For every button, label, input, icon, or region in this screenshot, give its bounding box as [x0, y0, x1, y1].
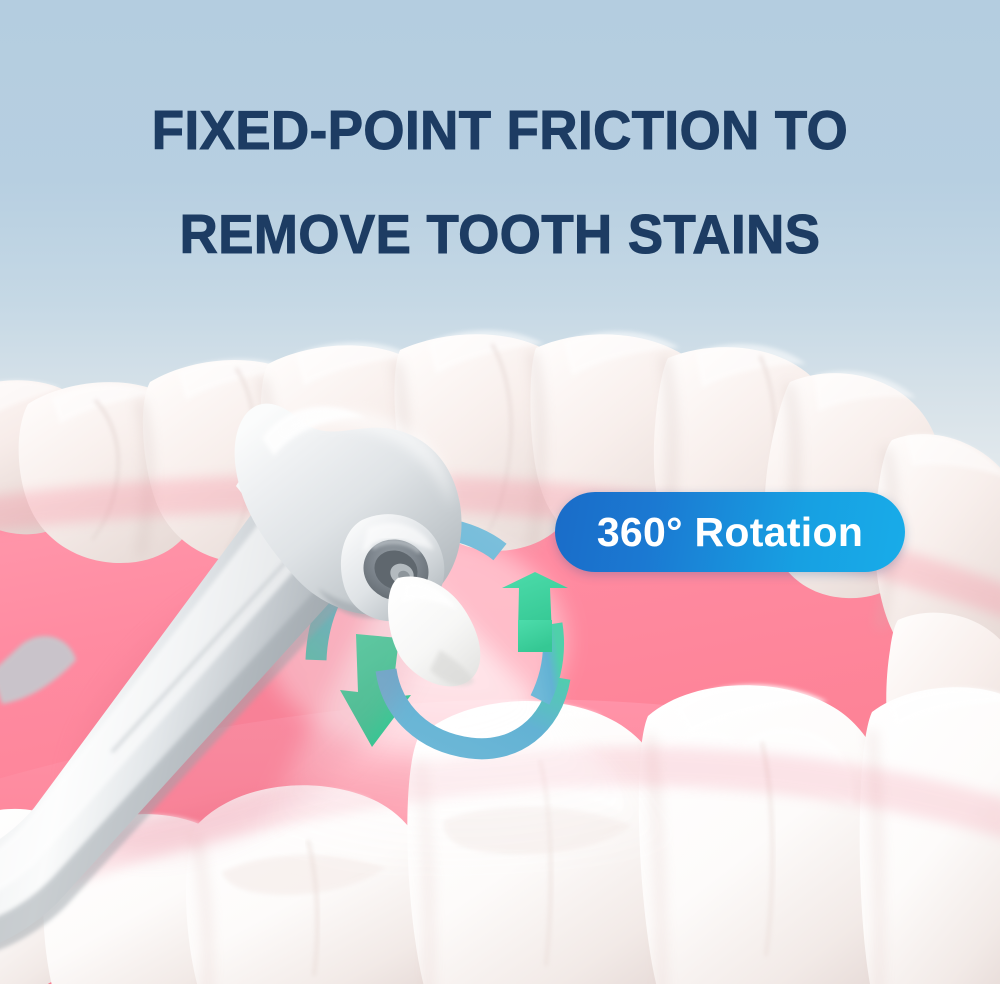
- headline-line-1: FIXED-POINT FRICTION TO: [20, 104, 980, 156]
- rotation-badge: 360° Rotation: [555, 492, 905, 572]
- product-feature-image: FIXED-POINT FRICTION TO REMOVE TOOTH STA…: [0, 0, 1000, 1000]
- rotation-badge-label: 360° Rotation: [597, 509, 863, 556]
- headline-line-2: REMOVE TOOTH STAINS: [20, 208, 980, 260]
- page-title: FIXED-POINT FRICTION TO REMOVE TOOTH STA…: [0, 52, 1000, 312]
